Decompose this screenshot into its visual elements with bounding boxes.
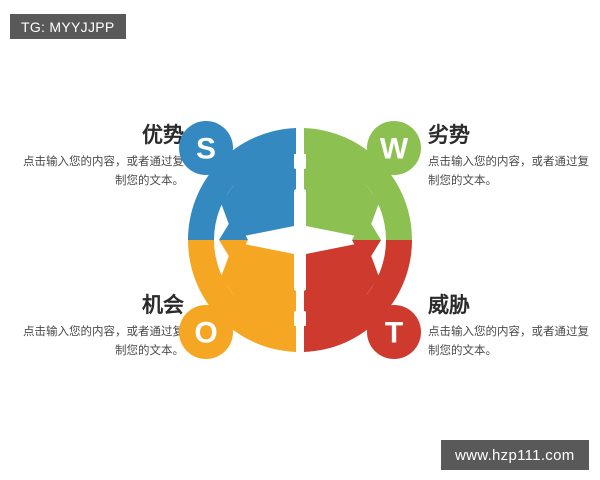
quadrant-title-strengths: 优势 — [12, 122, 184, 149]
swot-badge-letter-opportunities: O — [194, 317, 217, 350]
quadrant-body-strengths: 点击输入您的内容，或者通过复制您的文本。 — [12, 153, 184, 191]
swot-badge-threats[interactable]: T — [367, 305, 421, 359]
swot-wheel-diagram: S W O T — [172, 105, 428, 375]
slide-canvas: TG: MYYJJPP www.hzp111.com 优势 点击输入您的内容，或… — [0, 0, 600, 480]
site-watermark-badge: www.hzp111.com — [441, 440, 589, 470]
swot-badge-letter-strengths: S — [196, 133, 216, 166]
quadrant-text-weaknesses: 劣势 点击输入您的内容，或者通过复制您的文本。 — [428, 122, 600, 191]
swot-badge-letter-threats: T — [385, 317, 403, 350]
quadrant-title-weaknesses: 劣势 — [428, 122, 600, 149]
swot-badge-opportunities[interactable]: O — [179, 305, 233, 359]
quadrant-body-threats: 点击输入您的内容，或者通过复制您的文本。 — [428, 323, 600, 361]
swot-badge-weaknesses[interactable]: W — [367, 121, 421, 175]
quadrant-title-opportunities: 机会 — [12, 292, 184, 319]
quadrant-text-threats: 威胁 点击输入您的内容，或者通过复制您的文本。 — [428, 292, 600, 361]
quadrant-body-weaknesses: 点击输入您的内容，或者通过复制您的文本。 — [428, 153, 600, 191]
quadrant-body-opportunities: 点击输入您的内容，或者通过复制您的文本。 — [12, 323, 184, 361]
tag-watermark-label: TG: MYYJJPP — [21, 19, 115, 35]
site-watermark-label: www.hzp111.com — [455, 447, 575, 464]
quadrant-title-threats: 威胁 — [428, 292, 600, 319]
tag-watermark-badge: TG: MYYJJPP — [10, 14, 126, 39]
quadrant-text-strengths: 优势 点击输入您的内容，或者通过复制您的文本。 — [12, 122, 184, 191]
swot-badge-letter-weaknesses: W — [380, 133, 409, 166]
quadrant-text-opportunities: 机会 点击输入您的内容，或者通过复制您的文本。 — [12, 292, 184, 361]
swot-badge-strengths[interactable]: S — [179, 121, 233, 175]
